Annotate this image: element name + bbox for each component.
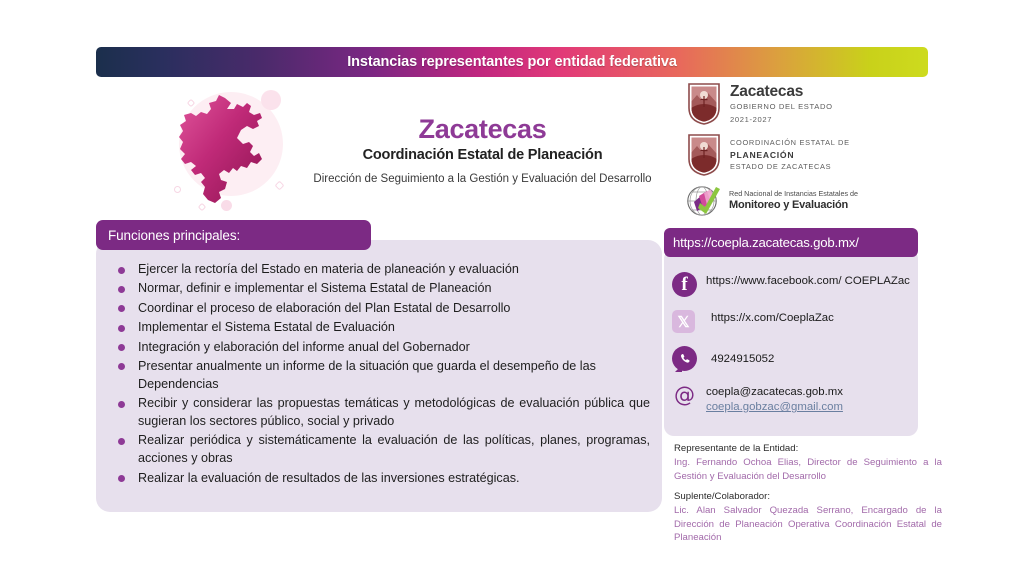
banner-title: Instancias representantes por entidad fe… [347,54,677,70]
functions-list: Ejercer la rectoría del Estado en materi… [112,261,650,489]
contact-row-facebook[interactable]: f https://www.facebook.com/ COEPLAZac [672,272,916,298]
contact-row-phone[interactable]: 4924915052 [672,346,916,372]
list-item: Realizar la evaluación de resultados de … [112,470,650,488]
list-item: Implementar el Sistema Estatal de Evalua… [112,319,650,337]
rnieme-logo: Red Nacional de Instancias Estatales de … [686,184,926,218]
at-email-icon-wrap: @ [672,383,698,409]
zacatecas-map-icon [163,82,295,212]
facebook-icon-wrap: f [672,272,698,298]
phone-handset-icon [678,352,692,366]
representatives-block: Representante de la Entidad: Ing. Fernan… [674,443,942,553]
alternate-value: Lic. Alan Salvador Quezada Serrano, Enca… [674,504,942,545]
alternate-label: Suplente/Colaborador: [674,491,942,502]
at-email-icon: @ [672,383,697,408]
logo-stack: Zacatecas GOBIERNO DEL ESTADO 2021-2027 … [686,82,926,218]
contact-list: f https://www.facebook.com/ COEPLAZac 𝕏 … [672,272,916,426]
office-name: Coordinación Estatal de Planeación [305,147,660,163]
coepla-logo-line2: PLANEACIÓN [730,149,850,162]
rnieme-logo-line1: Red Nacional de Instancias Estatales de [729,190,858,199]
email-secondary[interactable]: coepla.gobzac@gmail.com [706,400,843,415]
list-item: Coordinar el proceso de elaboración del … [112,300,650,318]
rnieme-globe-icon [686,184,724,218]
list-item: Recibir y considerar las propuestas temá… [112,395,650,431]
representative-value: Ing. Fernando Ochoa Elias, Director de S… [674,456,942,483]
coepla-logo-line3: ESTADO DE ZACATECAS [730,161,850,172]
email-group: coepla@zacatecas.gob.mx coepla.gobzac@gm… [706,383,843,415]
government-logo-title: Zacatecas [730,84,833,100]
department-name: Dirección de Seguimiento a la Gestión y … [305,172,660,188]
phone-number[interactable]: 4924915052 [706,350,774,367]
zacatecas-shield-icon [686,82,722,126]
coepla-logo: COORDINACIÓN ESTATAL DE PLANEACIÓN ESTAD… [686,133,926,177]
x-url[interactable]: https://x.com/CoeplaZac [706,309,834,326]
list-item: Realizar periódica y sistemáticamente la… [112,432,650,468]
facebook-icon: f [672,272,697,297]
coepla-logo-line1: COORDINACIÓN ESTATAL DE [730,137,850,148]
government-logo: Zacatecas GOBIERNO DEL ESTADO 2021-2027 [686,82,926,126]
functions-panel-tab-label: Funciones principales: [108,228,240,243]
government-logo-line1: GOBIERNO DEL ESTADO [730,102,833,111]
list-item: Integración y elaboración del informe an… [112,339,650,357]
list-item: Normar, definir e implementar el Sistema… [112,280,650,298]
state-map-illustration [163,82,295,212]
website-tab[interactable]: https://coepla.zacatecas.gob.mx/ [664,228,918,257]
page-title: Zacatecas [305,115,660,143]
representative-label: Representante de la Entidad: [674,443,942,454]
government-logo-line2: 2021-2027 [730,115,833,124]
page-banner: Instancias representantes por entidad fe… [96,47,928,77]
website-url[interactable]: https://coepla.zacatecas.gob.mx/ [673,235,859,250]
list-item: Ejercer la rectoría del Estado en materi… [112,261,650,279]
list-item: Presentar anualmente un informe de la si… [112,358,650,394]
x-twitter-icon: 𝕏 [672,310,695,333]
x-twitter-icon-wrap: 𝕏 [672,309,698,335]
email-primary[interactable]: coepla@zacatecas.gob.mx [706,385,843,400]
functions-panel-tab: Funciones principales: [96,220,371,250]
facebook-url[interactable]: https://www.facebook.com/ COEPLAZac [706,272,910,289]
whatsapp-icon [672,346,697,371]
contact-row-email[interactable]: @ coepla@zacatecas.gob.mx coepla.gobzac@… [672,383,916,415]
whatsapp-icon-wrap [672,346,698,372]
zacatecas-shield-icon [686,133,722,177]
header-titles: Zacatecas Coordinación Estatal de Planea… [305,115,660,188]
rnieme-logo-line2: Monitoreo y Evaluación [729,199,858,212]
contact-row-x[interactable]: 𝕏 https://x.com/CoeplaZac [672,309,916,335]
